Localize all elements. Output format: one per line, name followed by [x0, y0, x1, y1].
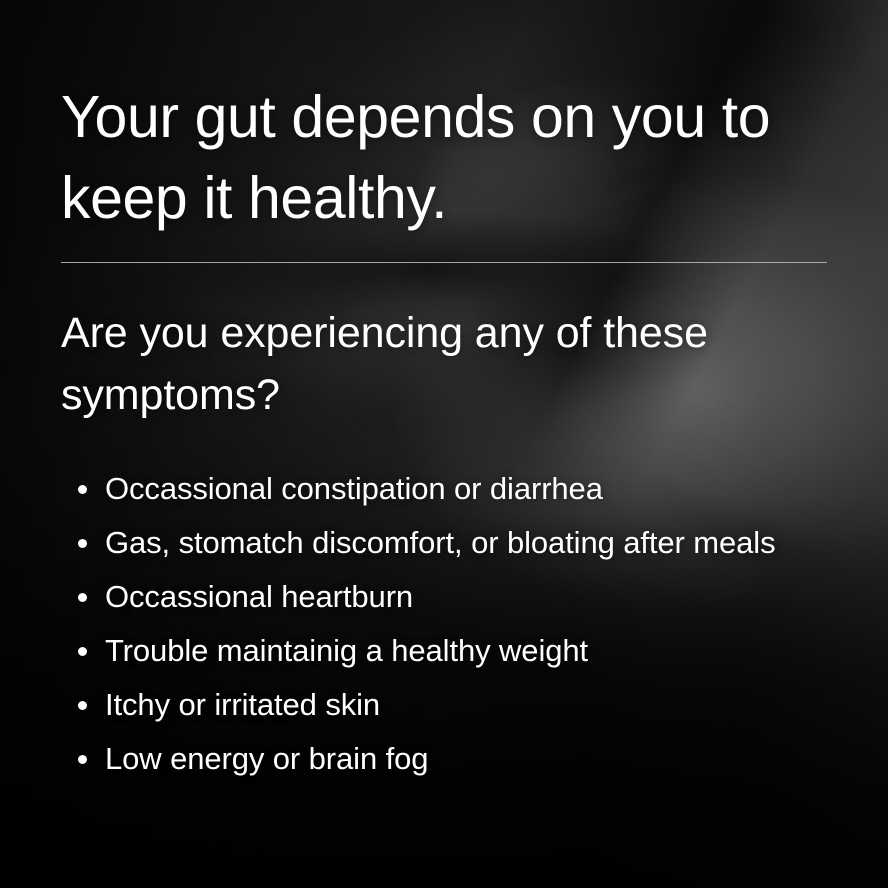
- list-item: Itchy or irritated skin: [61, 678, 851, 732]
- list-item: Low energy or brain fog: [61, 732, 851, 786]
- symptom-list: Occassional constipation or diarrhea Gas…: [61, 462, 851, 786]
- page-title: Your gut depends on you to keep it healt…: [61, 77, 851, 239]
- list-item-label: Occassional heartburn: [105, 570, 413, 624]
- bullet-dot-icon: [78, 647, 87, 656]
- list-item: Occassional heartburn: [61, 570, 851, 624]
- list-item: Gas, stomatch discomfort, or bloating af…: [61, 516, 851, 570]
- list-item-label: Gas, stomatch discomfort, or bloating af…: [105, 516, 776, 570]
- bullet-dot-icon: [78, 701, 87, 710]
- gut-health-promo-card: Your gut depends on you to keep it healt…: [0, 0, 888, 888]
- list-item-label: Trouble maintainig a healthy weight: [105, 624, 588, 678]
- bullet-dot-icon: [78, 755, 87, 764]
- card-content: Your gut depends on you to keep it healt…: [0, 0, 888, 888]
- list-item-label: Occassional constipation or diarrhea: [105, 462, 603, 516]
- bullet-dot-icon: [78, 593, 87, 602]
- bullet-dot-icon: [78, 539, 87, 548]
- list-item-label: Itchy or irritated skin: [105, 678, 380, 732]
- list-item: Trouble maintainig a healthy weight: [61, 624, 851, 678]
- divider-rule: [61, 262, 827, 263]
- list-item-label: Low energy or brain fog: [105, 732, 428, 786]
- bullet-dot-icon: [78, 485, 87, 494]
- list-item: Occassional constipation or diarrhea: [61, 462, 851, 516]
- subheading: Are you experiencing any of these sympto…: [61, 302, 761, 426]
